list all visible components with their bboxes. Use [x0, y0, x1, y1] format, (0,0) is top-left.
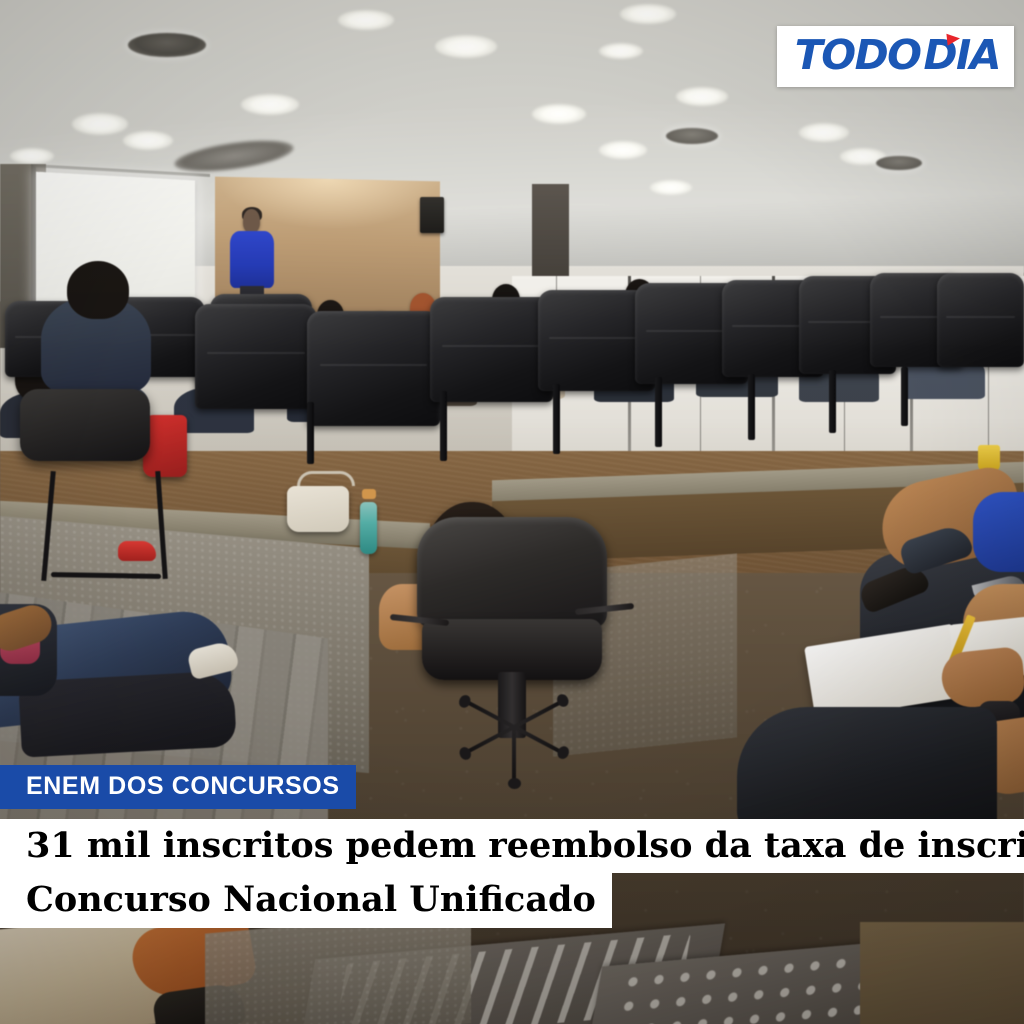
category-badge[interactable]: ENEM DOS CONCURSOS	[0, 765, 356, 809]
ceiling-downlight	[435, 35, 497, 58]
ceiling-downlight	[241, 94, 299, 115]
ceiling-downlight	[799, 123, 849, 142]
ceiling-downlight	[72, 113, 128, 135]
ceiling-downlight	[599, 43, 643, 59]
tododia-logo[interactable]: TODODIA	[777, 26, 1014, 87]
headline-overlay: ENEM DOS CONCURSOS 31 mil inscritos pede…	[0, 765, 1024, 1024]
ceiling-vent	[876, 156, 922, 170]
red-sneaker	[118, 541, 156, 561]
audience-person-blue-shirt	[973, 492, 1024, 572]
play-triangle-icon	[946, 32, 960, 45]
ceiling-downlight	[123, 131, 173, 150]
audience-person-left-head	[67, 261, 129, 319]
ceiling-vent	[666, 128, 718, 144]
office-chair-caster-arm	[513, 725, 564, 754]
handbag	[287, 486, 349, 532]
seat	[307, 311, 440, 426]
headline-line-1[interactable]: 31 mil inscritos pedem reembolso da taxa…	[0, 819, 1024, 874]
news-photo-card: TODODIA ENEM DOS CONCURSOS 31 mil inscri…	[0, 0, 1024, 1024]
office-chair	[399, 517, 624, 793]
ceiling-downlight	[620, 4, 676, 24]
office-chair-caster-arm	[464, 725, 515, 754]
handbag-strap	[297, 471, 355, 486]
seat	[430, 297, 553, 401]
seat	[937, 273, 1024, 367]
ceiling-downlight	[676, 87, 728, 106]
water-bottle	[360, 502, 377, 554]
logo-word-todo: TODO	[795, 31, 921, 79]
logo-word-dia: DIA	[923, 31, 1000, 79]
kicker-row: ENEM DOS CONCURSOS	[0, 765, 1024, 809]
headline-line-2[interactable]: Concurso Nacional Unificado	[0, 873, 612, 928]
ceiling-vent	[128, 33, 206, 57]
headline-block: 31 mil inscritos pedem reembolso da taxa…	[0, 819, 1024, 928]
logo-wordmark: TODODIA	[795, 35, 1000, 76]
seat	[195, 304, 318, 408]
chair-left	[20, 389, 150, 461]
water-bottle-cap	[362, 489, 376, 499]
